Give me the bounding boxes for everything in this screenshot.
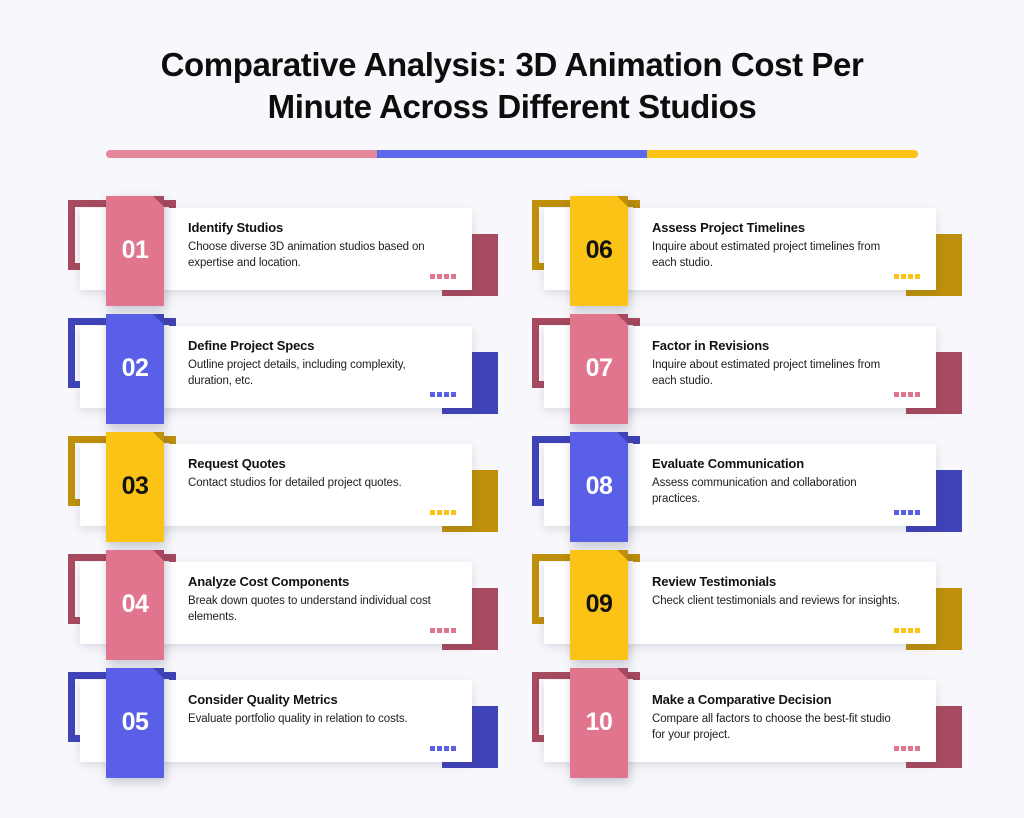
card-text: Review TestimonialsCheck client testimon…: [652, 574, 902, 610]
card-text: Request QuotesContact studios for detail…: [188, 456, 438, 492]
step-number-badge: 08: [570, 432, 628, 542]
dash-icon: [451, 628, 456, 633]
step-card[interactable]: 09Review TestimonialsCheck client testim…: [526, 546, 962, 664]
dashes-decoration-icon: [430, 274, 456, 279]
card-text: Identify StudiosChoose diverse 3D animat…: [188, 220, 438, 272]
underline-segment-3: [647, 150, 918, 158]
step-description: Contact studios for detailed project quo…: [188, 475, 438, 491]
step-number: 10: [586, 710, 613, 735]
dash-icon: [430, 392, 435, 397]
dashes-decoration-icon: [894, 510, 920, 515]
dash-icon: [901, 392, 906, 397]
dashes-decoration-icon: [894, 392, 920, 397]
dash-icon: [444, 274, 449, 279]
dash-icon: [908, 746, 913, 751]
card-text: Define Project SpecsOutline project deta…: [188, 338, 438, 390]
step-card[interactable]: 04Analyze Cost ComponentsBreak down quot…: [62, 546, 498, 664]
step-number-badge: 02: [106, 314, 164, 424]
underline-segment-2: [377, 150, 648, 158]
card-text: Evaluate CommunicationAssess communicati…: [652, 456, 902, 508]
folded-corner-icon: [153, 550, 164, 561]
dash-icon: [915, 392, 920, 397]
dashes-decoration-icon: [430, 392, 456, 397]
step-card[interactable]: 03Request QuotesContact studios for deta…: [62, 428, 498, 546]
dash-icon: [894, 510, 899, 515]
title-underline-bar: [106, 150, 918, 158]
step-number: 09: [586, 592, 613, 617]
step-title: Consider Quality Metrics: [188, 692, 438, 708]
dash-icon: [444, 628, 449, 633]
step-card[interactable]: 01Identify StudiosChoose diverse 3D anim…: [62, 192, 498, 310]
step-number: 07: [586, 356, 613, 381]
step-description: Inquire about estimated project timeline…: [652, 357, 902, 390]
step-card[interactable]: 08Evaluate CommunicationAssess communica…: [526, 428, 962, 546]
dash-icon: [908, 274, 913, 279]
folded-corner-icon: [153, 196, 164, 207]
step-number-badge: 07: [570, 314, 628, 424]
dash-icon: [451, 746, 456, 751]
dash-icon: [430, 628, 435, 633]
dash-icon: [901, 628, 906, 633]
step-number: 03: [122, 474, 149, 499]
step-title: Request Quotes: [188, 456, 438, 472]
step-number: 08: [586, 474, 613, 499]
dash-icon: [430, 746, 435, 751]
step-number-badge: 04: [106, 550, 164, 660]
dash-icon: [430, 274, 435, 279]
step-number-badge: 01: [106, 196, 164, 306]
folded-corner-icon: [617, 668, 628, 679]
card-text: Assess Project TimelinesInquire about es…: [652, 220, 902, 272]
step-title: Evaluate Communication: [652, 456, 902, 472]
step-card[interactable]: 02Define Project SpecsOutline project de…: [62, 310, 498, 428]
page-title: Comparative Analysis: 3D Animation Cost …: [112, 44, 912, 128]
dash-icon: [437, 746, 442, 751]
folded-corner-icon: [617, 196, 628, 207]
step-description: Check client testimonials and reviews fo…: [652, 593, 902, 609]
folded-corner-icon: [617, 550, 628, 561]
dash-icon: [894, 628, 899, 633]
dash-icon: [908, 510, 913, 515]
dash-icon: [430, 510, 435, 515]
step-description: Evaluate portfolio quality in relation t…: [188, 711, 438, 727]
dash-icon: [915, 628, 920, 633]
dashes-decoration-icon: [430, 510, 456, 515]
step-title: Analyze Cost Components: [188, 574, 438, 590]
dash-icon: [915, 746, 920, 751]
dash-icon: [908, 392, 913, 397]
step-card[interactable]: 06Assess Project TimelinesInquire about …: [526, 192, 962, 310]
dash-icon: [901, 274, 906, 279]
step-number-badge: 03: [106, 432, 164, 542]
step-title: Assess Project Timelines: [652, 220, 902, 236]
dash-icon: [444, 510, 449, 515]
step-description: Assess communication and collaboration p…: [652, 475, 902, 508]
card-text: Analyze Cost ComponentsBreak down quotes…: [188, 574, 438, 626]
step-number: 06: [586, 238, 613, 263]
folded-corner-icon: [153, 668, 164, 679]
dash-icon: [451, 392, 456, 397]
step-number-badge: 06: [570, 196, 628, 306]
step-title: Make a Comparative Decision: [652, 692, 902, 708]
step-number: 05: [122, 710, 149, 735]
step-title: Factor in Revisions: [652, 338, 902, 354]
dash-icon: [901, 510, 906, 515]
header: Comparative Analysis: 3D Animation Cost …: [0, 0, 1024, 158]
folded-corner-icon: [617, 314, 628, 325]
folded-corner-icon: [617, 432, 628, 443]
dash-icon: [437, 628, 442, 633]
step-description: Break down quotes to understand individu…: [188, 593, 438, 626]
dash-icon: [437, 274, 442, 279]
dashes-decoration-icon: [894, 274, 920, 279]
step-card[interactable]: 05Consider Quality MetricsEvaluate portf…: [62, 664, 498, 782]
step-number-badge: 09: [570, 550, 628, 660]
step-number-badge: 10: [570, 668, 628, 778]
step-number: 01: [122, 238, 149, 263]
dash-icon: [444, 746, 449, 751]
dash-icon: [451, 274, 456, 279]
dash-icon: [894, 746, 899, 751]
step-number-badge: 05: [106, 668, 164, 778]
dash-icon: [437, 392, 442, 397]
step-card[interactable]: 07Factor in RevisionsInquire about estim…: [526, 310, 962, 428]
step-description: Outline project details, including compl…: [188, 357, 438, 390]
step-description: Choose diverse 3D animation studios base…: [188, 239, 438, 272]
step-card[interactable]: 10Make a Comparative DecisionCompare all…: [526, 664, 962, 782]
step-description: Compare all factors to choose the best-f…: [652, 711, 902, 744]
dash-icon: [915, 510, 920, 515]
dash-icon: [894, 274, 899, 279]
dash-icon: [908, 628, 913, 633]
dashes-decoration-icon: [894, 628, 920, 633]
step-number: 02: [122, 356, 149, 381]
card-text: Factor in RevisionsInquire about estimat…: [652, 338, 902, 390]
step-title: Define Project Specs: [188, 338, 438, 354]
dashes-decoration-icon: [894, 746, 920, 751]
folded-corner-icon: [153, 432, 164, 443]
step-description: Inquire about estimated project timeline…: [652, 239, 902, 272]
dash-icon: [451, 510, 456, 515]
dash-icon: [901, 746, 906, 751]
dashes-decoration-icon: [430, 628, 456, 633]
underline-segment-1: [106, 150, 377, 158]
dash-icon: [894, 392, 899, 397]
step-number: 04: [122, 592, 149, 617]
dash-icon: [915, 274, 920, 279]
dashes-decoration-icon: [430, 746, 456, 751]
step-title: Review Testimonials: [652, 574, 902, 590]
step-title: Identify Studios: [188, 220, 438, 236]
card-text: Make a Comparative DecisionCompare all f…: [652, 692, 902, 744]
folded-corner-icon: [153, 314, 164, 325]
steps-grid: 01Identify StudiosChoose diverse 3D anim…: [0, 192, 1024, 782]
dash-icon: [444, 392, 449, 397]
dash-icon: [437, 510, 442, 515]
card-text: Consider Quality MetricsEvaluate portfol…: [188, 692, 438, 728]
